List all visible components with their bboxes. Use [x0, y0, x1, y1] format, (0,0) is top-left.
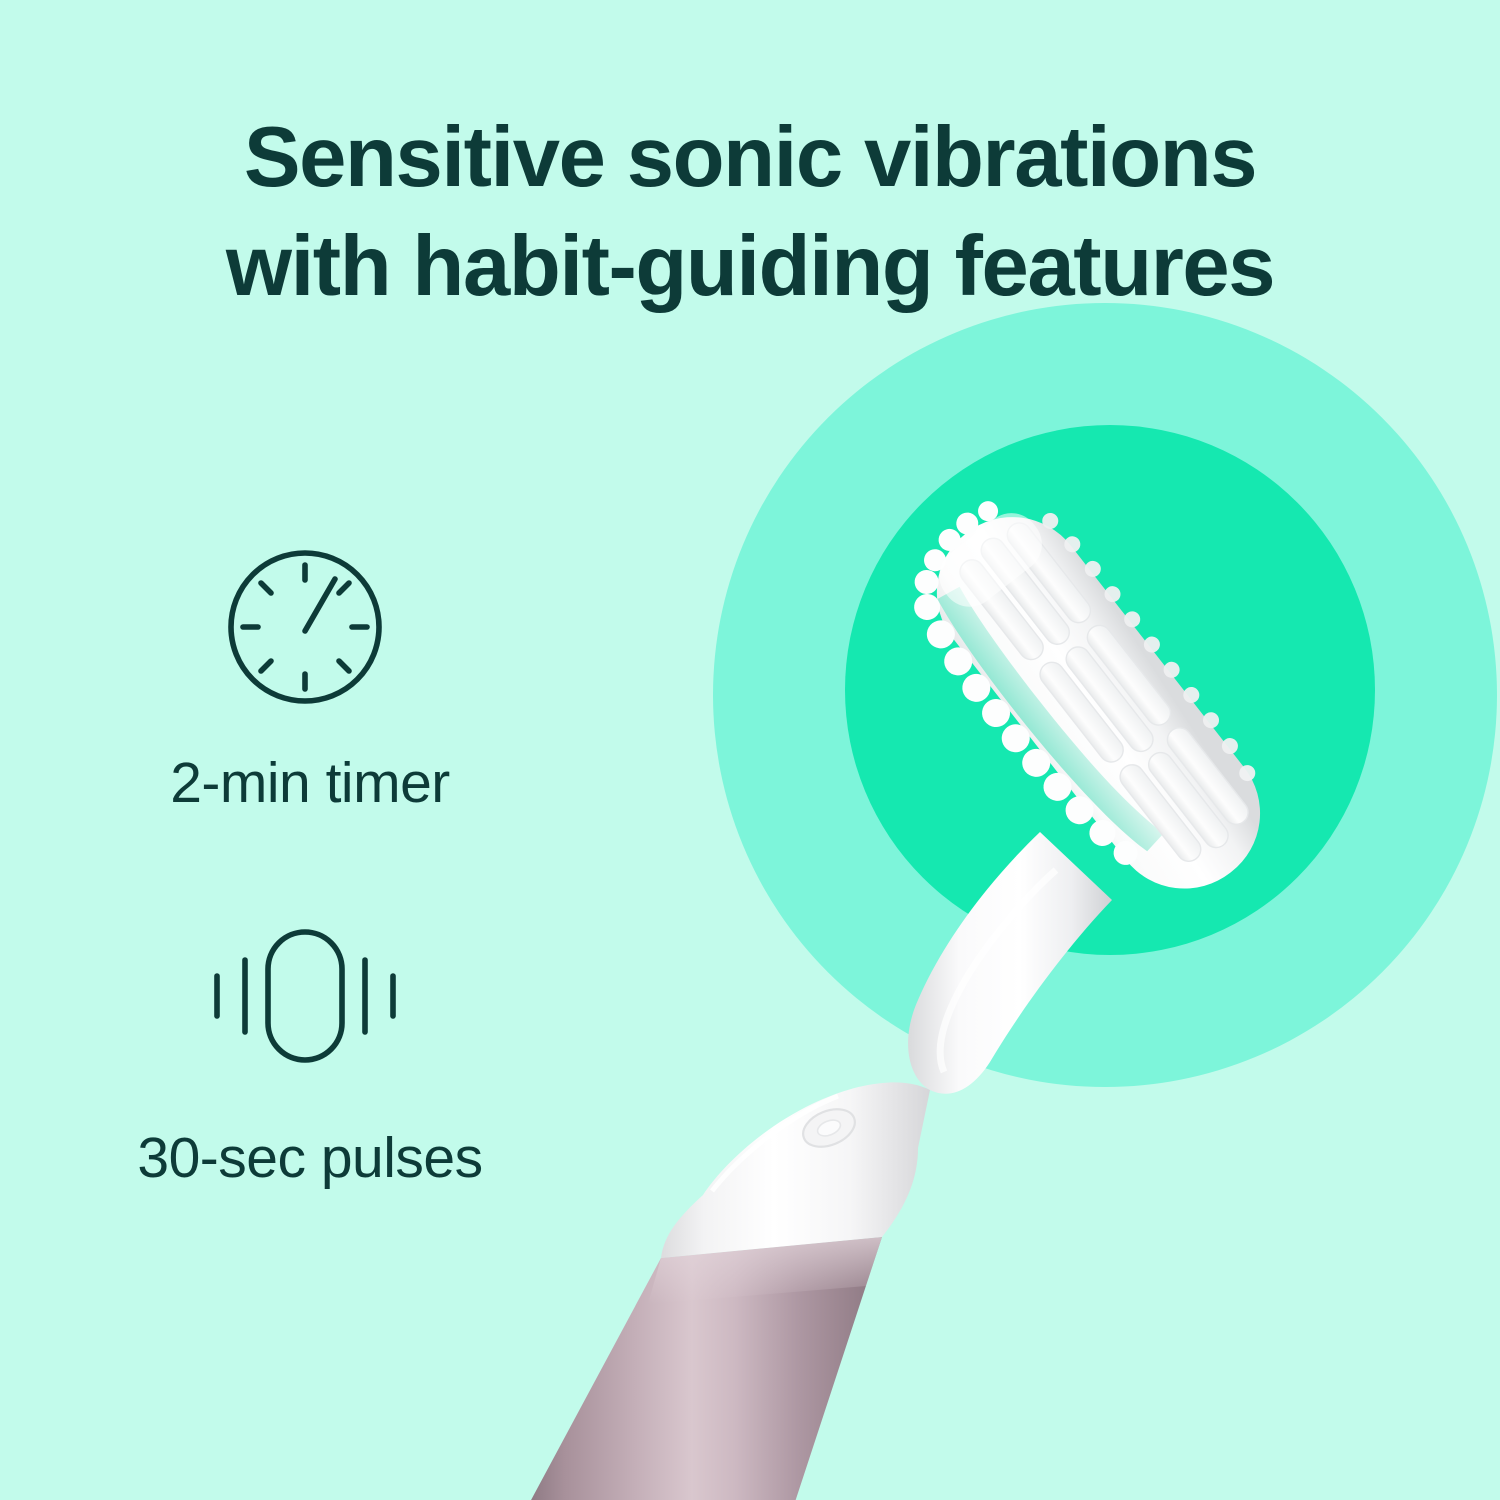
vibration-icon-wrapper	[155, 920, 455, 1085]
feature-label-pulses: 30-sec pulses	[0, 1125, 620, 1191]
marketing-banner: Sensitive sonic vibrations with habit-gu…	[0, 0, 1500, 1500]
feature-item-pulses: 30-sec pulses	[0, 920, 620, 1295]
clock-icon-wrapper	[155, 545, 455, 710]
clock-icon	[155, 545, 455, 710]
toothbrush-neck	[661, 1082, 930, 1258]
headline-line-1: Sensitive sonic vibrations	[0, 104, 1500, 213]
headline-line-2: with habit-guiding features	[0, 213, 1500, 322]
page-title: Sensitive sonic vibrations with habit-gu…	[0, 104, 1500, 322]
vibration-icon	[155, 920, 455, 1085]
feature-label-timer: 2-min timer	[0, 750, 620, 816]
power-button	[798, 1102, 861, 1154]
inner-accent-circle	[845, 425, 1375, 955]
feature-list: 2-min timer 30-sec pulses	[0, 545, 620, 1295]
feature-item-timer: 2-min timer	[0, 545, 620, 920]
